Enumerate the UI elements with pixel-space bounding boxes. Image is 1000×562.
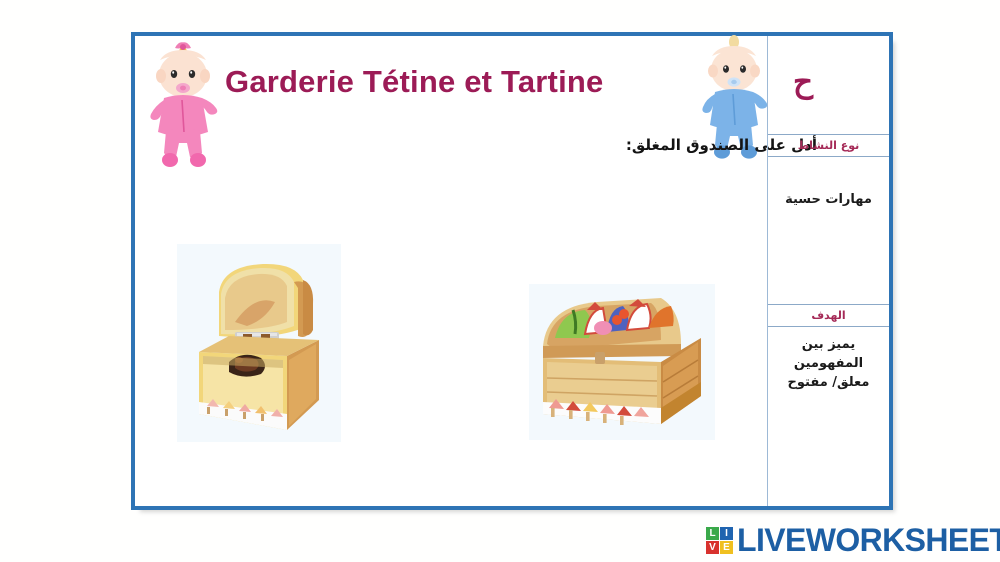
- info-panel: نوع النشاط مهارات حسية الهدف يميز بين ال…: [767, 36, 889, 506]
- panel-value-goal: يميز بين المفهومين معلق/ مفتوح: [768, 336, 889, 393]
- logo-block-l: L: [706, 527, 719, 540]
- open-treasure-chest-image[interactable]: [177, 244, 341, 442]
- liveworksheets-logo[interactable]: LIVE LIVEWORKSHEETS: [706, 522, 1000, 559]
- liveworksheets-wordmark: LIVEWORKSHEETS: [737, 522, 1000, 559]
- closed-treasure-chest-image[interactable]: [529, 284, 715, 440]
- liveworksheets-logo-blocks: LIVE: [706, 527, 733, 554]
- logo-block-e: E: [720, 541, 733, 554]
- panel-header-goal: الهدف: [768, 304, 889, 327]
- baby-pink-icon: [148, 32, 218, 172]
- page-title: Garderie Tétine et Tartine: [225, 64, 785, 100]
- logo-block-i: I: [720, 527, 733, 540]
- logo-block-v: V: [706, 541, 719, 554]
- panel-value-activity-type: مهارات حسية: [768, 191, 889, 210]
- worksheet-frame: Garderie Tétine et Tartine ح أدل على الص…: [131, 32, 893, 510]
- panel-header-activity-type: نوع النشاط: [768, 134, 889, 157]
